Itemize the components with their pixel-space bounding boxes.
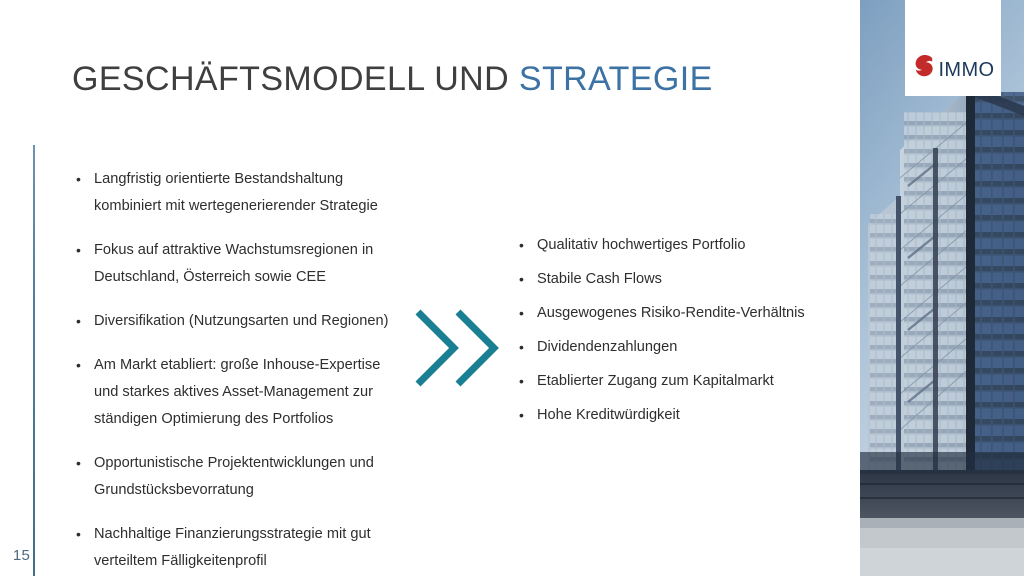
left-bullet-list: Langfristig orientierte Bestandshaltung … xyxy=(76,166,406,576)
right-bullet-list: Qualitativ hochwertiges Portfolio Stabil… xyxy=(519,232,829,436)
s-monogram-icon xyxy=(911,53,937,84)
double-chevron-right-icon xyxy=(410,306,510,390)
page-title-accent: STRATEGIE xyxy=(519,60,713,98)
page-title: GESCHÄFTSMODELL UND STRATEGIE xyxy=(72,60,713,99)
logo-wordmark: IMMO xyxy=(938,60,994,80)
list-item: Hohe Kreditwürdigkeit xyxy=(519,402,829,429)
list-item: Diversifikation (Nutzungsarten und Regio… xyxy=(76,308,406,335)
list-item: Stabile Cash Flows xyxy=(519,266,829,293)
page-number: 15 xyxy=(8,547,30,564)
logo-inner: IMMO xyxy=(911,53,994,84)
list-item: Ausgewogenes Risiko-Rendite-Verhältnis xyxy=(519,300,829,327)
list-item: Fokus auf attraktive Wachstumsregionen i… xyxy=(76,237,406,291)
list-item: Opportunistische Projektentwicklungen un… xyxy=(76,450,406,504)
left-accent-rule xyxy=(33,145,35,576)
list-item: Qualitativ hochwertiges Portfolio xyxy=(519,232,829,259)
list-item: Etablierter Zugang zum Kapitalmarkt xyxy=(519,368,829,395)
slide-canvas: 15 GESCHÄFTSMODELL UND STRATEGIE Langfri… xyxy=(0,0,1024,576)
page-title-plain: GESCHÄFTSMODELL UND xyxy=(72,60,519,98)
logo: IMMO xyxy=(905,0,1001,96)
list-item: Dividendenzahlungen xyxy=(519,334,829,361)
list-item: Nachhaltige Finanzierungsstrategie mit g… xyxy=(76,521,406,575)
list-item: Am Markt etabliert: große Inhouse-Expert… xyxy=(76,352,406,433)
list-item: Langfristig orientierte Bestandshaltung … xyxy=(76,166,406,220)
